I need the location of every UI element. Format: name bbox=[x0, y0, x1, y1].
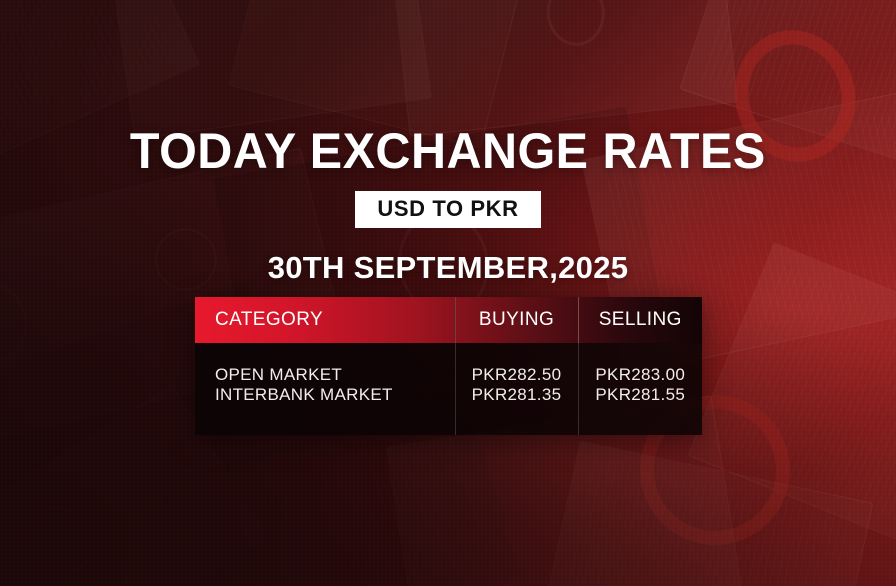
rate-date: 30TH SEPTEMBER,2025 bbox=[268, 250, 629, 286]
column-header-selling: SELLING bbox=[578, 297, 702, 343]
cell-category: INTERBANK MARKET bbox=[195, 385, 455, 435]
exchange-rate-banner: TODAY EXCHANGE RATES USD TO PKR 30TH SEP… bbox=[0, 0, 896, 586]
table-body: OPEN MARKET PKR282.50 PKR283.00 INTERBAN… bbox=[195, 343, 702, 435]
cell-selling: PKR281.55 bbox=[578, 385, 702, 435]
column-header-category: CATEGORY bbox=[195, 297, 455, 343]
table-row: INTERBANK MARKET PKR281.35 PKR281.55 bbox=[195, 385, 702, 435]
cell-category: OPEN MARKET bbox=[195, 343, 455, 385]
table-header: CATEGORY BUYING SELLING bbox=[195, 297, 702, 343]
table-header-row: CATEGORY BUYING SELLING bbox=[195, 297, 702, 343]
column-header-buying: BUYING bbox=[455, 297, 578, 343]
page-title: TODAY EXCHANGE RATES bbox=[130, 126, 766, 176]
cell-buying: PKR282.50 bbox=[455, 343, 578, 385]
currency-pair-badge: USD TO PKR bbox=[355, 191, 540, 228]
exchange-rate-table: CATEGORY BUYING SELLING OPEN MARKET PKR2… bbox=[195, 297, 702, 435]
cell-buying: PKR281.35 bbox=[455, 385, 578, 435]
table-row: OPEN MARKET PKR282.50 PKR283.00 bbox=[195, 343, 702, 385]
cell-selling: PKR283.00 bbox=[578, 343, 702, 385]
